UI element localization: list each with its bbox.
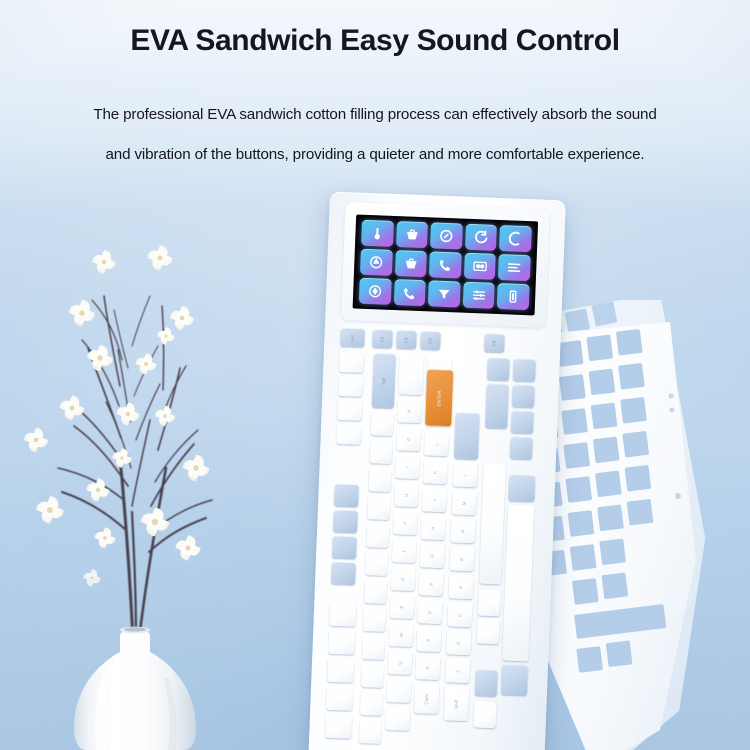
numpad-key[interactable] bbox=[325, 714, 352, 739]
key-w[interactable]: W bbox=[389, 622, 414, 647]
key-ctrl[interactable] bbox=[475, 669, 498, 696]
key-x[interactable]: X bbox=[446, 630, 471, 655]
key-r[interactable]: R bbox=[391, 566, 416, 591]
key-l[interactable]: L bbox=[424, 431, 449, 456]
numpad-key[interactable] bbox=[331, 562, 356, 585]
card-icon[interactable] bbox=[464, 253, 497, 280]
gauge-icon[interactable] bbox=[360, 249, 393, 276]
display-bezel bbox=[341, 202, 549, 328]
key-i[interactable]: I bbox=[395, 454, 420, 479]
disc-icon[interactable] bbox=[430, 222, 463, 249]
key-d[interactable]: D bbox=[418, 599, 443, 624]
key-q-row[interactable] bbox=[398, 354, 424, 395]
key-f1[interactable]: F1 bbox=[372, 329, 393, 348]
numpad-key[interactable] bbox=[328, 630, 355, 655]
numpad-key[interactable] bbox=[338, 376, 363, 397]
key-mod[interactable] bbox=[510, 437, 533, 460]
basket-filled-icon[interactable] bbox=[394, 250, 427, 277]
key-mod[interactable] bbox=[487, 358, 510, 381]
key-b[interactable]: B bbox=[450, 546, 475, 571]
key-fn[interactable] bbox=[474, 701, 497, 728]
key-win[interactable] bbox=[477, 617, 500, 644]
key-caps[interactable]: Caps bbox=[414, 683, 439, 714]
key-m[interactable]: M bbox=[452, 490, 477, 515]
key-tab-row[interactable] bbox=[385, 706, 410, 731]
key-alt[interactable] bbox=[478, 589, 501, 616]
numpad-key[interactable] bbox=[336, 424, 361, 445]
key-u[interactable]: U bbox=[394, 482, 419, 507]
key-mod[interactable] bbox=[513, 359, 536, 382]
compass-icon[interactable] bbox=[359, 278, 392, 305]
key-mod-tall[interactable] bbox=[485, 384, 509, 429]
numpad-key[interactable] bbox=[333, 510, 358, 533]
key-s[interactable]: S bbox=[417, 627, 442, 652]
key-f[interactable]: F bbox=[419, 571, 444, 596]
flower-arrangement bbox=[0, 200, 270, 750]
key-z[interactable]: Z bbox=[445, 658, 470, 683]
lcd-icon-screen[interactable] bbox=[353, 214, 538, 315]
key-e[interactable]: E bbox=[390, 594, 415, 619]
key-p[interactable]: P bbox=[397, 398, 422, 423]
key-v[interactable]: V bbox=[449, 574, 474, 599]
key-slash[interactable]: / bbox=[453, 462, 478, 487]
key-number[interactable] bbox=[359, 719, 382, 744]
key-number[interactable] bbox=[369, 467, 392, 492]
moon-icon[interactable] bbox=[465, 224, 498, 251]
key-number[interactable] bbox=[365, 551, 388, 576]
key-tab-row[interactable] bbox=[387, 678, 412, 703]
key-number[interactable] bbox=[363, 607, 386, 632]
key-number[interactable] bbox=[362, 635, 385, 660]
numpad-key[interactable] bbox=[337, 400, 362, 421]
key-arrow-down[interactable] bbox=[501, 664, 528, 695]
vase bbox=[74, 627, 196, 750]
numpad-key[interactable] bbox=[329, 602, 356, 627]
key-g[interactable]: G bbox=[420, 543, 445, 568]
battery-icon[interactable] bbox=[497, 283, 530, 310]
phone-icon[interactable] bbox=[429, 251, 462, 278]
numpad-key[interactable] bbox=[332, 536, 357, 559]
key-shift-left[interactable]: Shift bbox=[444, 686, 469, 721]
body-line-2: and vibration of the buttons, providing … bbox=[0, 135, 750, 175]
list-icon[interactable] bbox=[498, 254, 531, 281]
key-number[interactable] bbox=[360, 691, 383, 716]
key-tab[interactable]: Tab bbox=[372, 353, 396, 408]
key-f3[interactable]: F3 bbox=[420, 331, 441, 350]
key-enter-accent[interactable]: ENTER bbox=[425, 369, 453, 426]
blossoms bbox=[24, 245, 209, 586]
numpad-key[interactable] bbox=[334, 484, 359, 507]
key-number[interactable] bbox=[361, 663, 384, 688]
key-mod[interactable] bbox=[512, 385, 535, 408]
numpad-key[interactable] bbox=[326, 686, 353, 711]
phone-down-icon[interactable] bbox=[393, 279, 426, 306]
key-number[interactable] bbox=[364, 579, 387, 604]
key-number[interactable] bbox=[371, 411, 394, 436]
key-mod[interactable] bbox=[511, 411, 534, 434]
key-arrow-up[interactable] bbox=[508, 475, 535, 502]
key-y[interactable]: Y bbox=[393, 510, 418, 535]
sliders-icon[interactable] bbox=[463, 282, 496, 309]
mechanical-keyboard[interactable]: esc F1 F2 F3 F4 Tab P O bbox=[330, 196, 566, 750]
numpad-key[interactable] bbox=[327, 658, 354, 683]
thermometer-icon[interactable] bbox=[361, 220, 394, 247]
key-h[interactable]: H bbox=[421, 515, 446, 540]
page-title: EVA Sandwich Easy Sound Control bbox=[0, 24, 750, 58]
key-f4[interactable]: F4 bbox=[484, 334, 505, 353]
key-spacebar-upper[interactable] bbox=[479, 464, 506, 585]
key-f2[interactable]: F2 bbox=[396, 330, 417, 349]
basket-icon[interactable] bbox=[396, 221, 429, 248]
body-line-1: The professional EVA sandwich cotton fil… bbox=[0, 95, 750, 135]
key-number[interactable] bbox=[370, 439, 393, 464]
key-j[interactable]: J bbox=[422, 487, 447, 512]
key-number[interactable] bbox=[368, 495, 391, 520]
key-n[interactable]: N bbox=[451, 518, 476, 543]
key-shift-right[interactable] bbox=[454, 412, 480, 459]
key-k[interactable]: K bbox=[423, 459, 448, 484]
crescent-icon[interactable] bbox=[499, 225, 532, 252]
body-copy: The professional EVA sandwich cotton fil… bbox=[0, 95, 750, 175]
key-q[interactable]: Q bbox=[388, 650, 413, 675]
header-section: EVA Sandwich Easy Sound Control The prof… bbox=[0, 0, 750, 185]
funnel-icon[interactable] bbox=[428, 280, 461, 307]
key-a[interactable]: A bbox=[415, 655, 440, 680]
numpad-key[interactable] bbox=[339, 352, 364, 373]
key-t[interactable]: T bbox=[392, 538, 417, 563]
key-c[interactable]: C bbox=[447, 602, 472, 627]
key-number[interactable] bbox=[366, 523, 389, 548]
key-o[interactable]: O bbox=[396, 426, 421, 451]
key-esc[interactable]: esc bbox=[340, 328, 365, 347]
key-spacebar[interactable] bbox=[502, 505, 534, 662]
